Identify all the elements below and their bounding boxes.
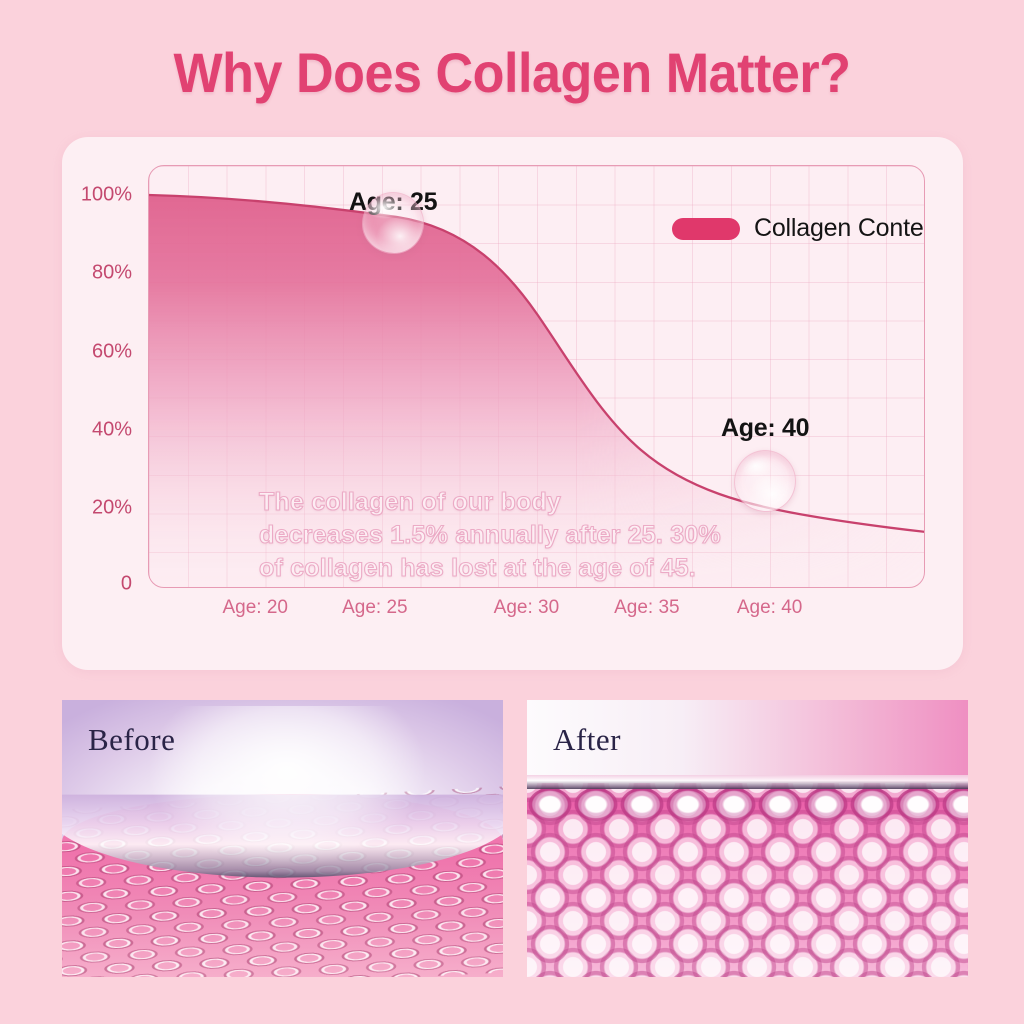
y-tick-label: 20% <box>92 497 132 520</box>
chart-caption-line-2: decreases 1.5% annually after 25. 30% <box>259 519 789 552</box>
y-axis: 100% 80% 60% 40% 20% 0 <box>62 165 140 588</box>
chart-card: 100% 80% 60% 40% 20% 0 <box>62 137 963 670</box>
after-skin-boundary <box>527 775 968 789</box>
y-tick-label: 60% <box>92 340 132 363</box>
x-tick-label: Age: 35 <box>614 597 680 619</box>
x-axis: Age: 20 Age: 25 Age: 30 Age: 35 Age: 40 <box>148 597 925 629</box>
after-photo: After <box>527 700 968 977</box>
page-title: Why Does Collagen Matter? <box>36 40 988 105</box>
y-tick-label: 100% <box>81 183 132 206</box>
chart-legend: Collagen Content <box>672 214 925 243</box>
before-label: Before <box>88 722 175 758</box>
chart-caption: The collagen of our body decreases 1.5% … <box>259 486 789 585</box>
chart-caption-line-3: of collagen has lost at the age of 45. <box>259 552 789 585</box>
y-tick-label: 0 <box>121 572 132 595</box>
x-tick-label: Age: 20 <box>222 597 288 619</box>
y-tick-label: 80% <box>92 262 132 285</box>
before-highlight <box>150 706 423 867</box>
chart-caption-line-1: The collagen of our body <box>259 486 789 519</box>
after-top-cell-row <box>527 786 968 830</box>
before-after-comparison: Before After <box>0 700 1024 990</box>
after-label: After <box>553 722 621 758</box>
before-photo: Before <box>62 700 503 977</box>
x-tick-label: Age: 30 <box>494 597 560 619</box>
y-tick-label: 40% <box>92 418 132 441</box>
legend-swatch-collagen-content <box>672 218 740 240</box>
x-tick-label: Age: 40 <box>737 597 803 619</box>
legend-label: Collagen Content <box>754 214 925 243</box>
plot-wrapper: Collagen Content Age: 25 Age: 40 The col… <box>148 165 925 588</box>
x-tick-label: Age: 25 <box>342 597 408 619</box>
plot-area: Collagen Content Age: 25 Age: 40 The col… <box>148 165 925 588</box>
